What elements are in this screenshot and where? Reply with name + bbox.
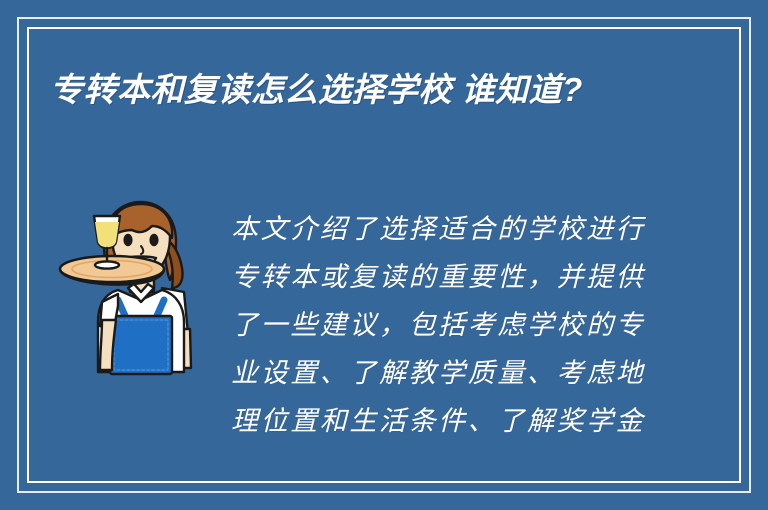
apron-body [110, 316, 172, 374]
poster-card: 专转本和复读怎么选择学校 谁知道? [0, 0, 768, 510]
page-title: 专转本和复读怎么选择学校 谁知道? [50, 66, 670, 113]
glass-foot [95, 261, 119, 268]
waitress-with-tray-illustration [58, 196, 218, 378]
left-eye [123, 234, 132, 246]
summary-paragraph: 本文介绍了选择适合的学校进行专转本或复读的重要性，并提供了一些建议，包括考虑学校… [231, 206, 655, 446]
waitress-illustration-svg [58, 196, 218, 378]
right-eye [149, 234, 158, 246]
